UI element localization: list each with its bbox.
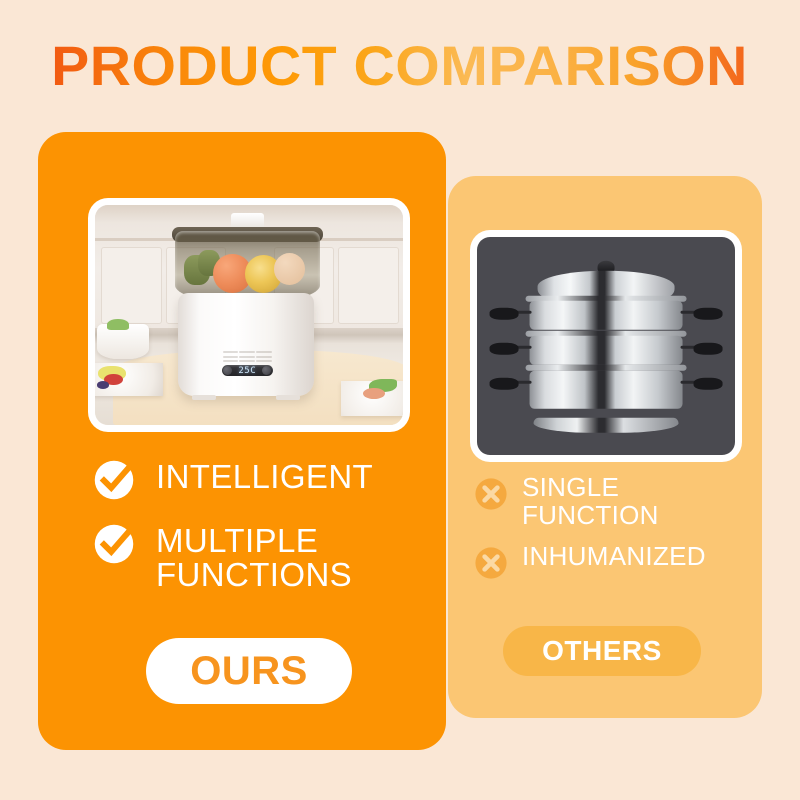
control-label <box>223 360 239 362</box>
food-roll <box>274 253 306 285</box>
control-label <box>239 351 255 353</box>
pot-handle-right <box>694 343 723 355</box>
ours-product-photo: 25C <box>95 205 403 425</box>
display-button-right[interactable] <box>262 366 271 375</box>
steel-steamer-pot-illustration <box>511 259 702 433</box>
control-label <box>256 356 272 358</box>
steamer-foot <box>276 395 300 400</box>
steamer-glass-bowl <box>175 231 320 301</box>
pot-tier <box>530 336 683 366</box>
display-temperature-value: 25C <box>238 366 256 376</box>
cabinet-panel <box>338 247 399 324</box>
list-item: SINGLE FUNCTION <box>474 474 754 529</box>
others-card[interactable]: SINGLE FUNCTION INHUMANIZED OTHERS <box>448 176 762 718</box>
plated-meat <box>363 388 385 399</box>
pot-base <box>533 418 678 434</box>
check-circle-icon <box>92 522 136 566</box>
steamer-foot <box>192 395 216 400</box>
pot-handle-left <box>490 308 519 320</box>
pot-lid <box>537 271 674 297</box>
pot-handle-left <box>490 377 519 389</box>
others-badge[interactable]: OTHERS <box>503 626 701 676</box>
list-item: INHUMANIZED <box>474 543 754 580</box>
control-label <box>239 356 255 358</box>
control-label <box>223 356 239 358</box>
list-item: MULTIPLE FUNCTIONS <box>92 524 422 591</box>
x-circle-icon <box>474 477 508 511</box>
control-label <box>239 360 255 362</box>
ours-product-photo-frame: 25C <box>88 198 410 432</box>
x-circle-icon <box>474 546 508 580</box>
pot-handle-right <box>694 377 723 389</box>
steamer-body: 25C <box>178 293 314 396</box>
ours-feature-label: INTELLIGENT <box>156 460 373 494</box>
comparison-columns: SINGLE FUNCTION INHUMANIZED OTHERS <box>0 0 800 800</box>
pot-handle-right <box>694 308 723 320</box>
control-label <box>223 351 239 353</box>
pot-handle-left <box>490 343 519 355</box>
others-product-photo-frame <box>470 230 742 462</box>
steamer-led-display[interactable]: 25C <box>222 365 273 375</box>
display-button-left[interactable] <box>223 366 232 375</box>
others-feature-label: SINGLE FUNCTION <box>522 474 754 529</box>
list-item: INTELLIGENT <box>92 460 422 502</box>
pot-tier <box>530 301 683 331</box>
ours-feature-label: MULTIPLE FUNCTIONS <box>156 524 422 591</box>
ours-badge[interactable]: OURS <box>146 638 352 704</box>
cabinet-panel <box>101 247 162 324</box>
ours-feature-list: INTELLIGENT MULTIPLE FUNCTIONS <box>92 460 422 591</box>
others-product-photo <box>477 237 735 455</box>
garnish-herb <box>107 319 129 330</box>
others-feature-list: SINGLE FUNCTION INHUMANIZED <box>474 474 754 580</box>
control-label <box>256 360 272 362</box>
ours-card[interactable]: 25C <box>38 132 446 750</box>
pot-tier <box>530 370 683 408</box>
steamer-control-labels <box>223 350 272 363</box>
others-feature-label: INHUMANIZED <box>522 543 706 571</box>
check-circle-icon <box>92 458 136 502</box>
control-label <box>256 351 272 353</box>
salad-berry <box>97 381 109 389</box>
